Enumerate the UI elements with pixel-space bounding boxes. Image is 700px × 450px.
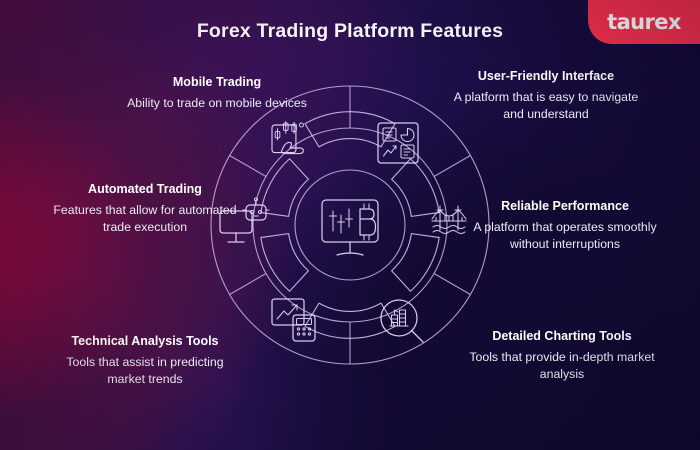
feature-label-reliable-performance: Reliable Performance A platform that ope…: [470, 198, 660, 253]
feature-label-technical-analysis-tools: Technical Analysis Tools Tools that assi…: [50, 333, 240, 388]
feature-description: A platform that operates smoothly withou…: [470, 219, 660, 253]
outer-ring-spokes: [230, 86, 471, 364]
brand-logo-badge: taurex: [588, 0, 700, 44]
brand-logo-text: taurex: [607, 10, 681, 34]
circular-feature-diagram: [210, 85, 490, 365]
monitor-candlestick-bitcoin-icon: [322, 200, 378, 255]
feature-title: User-Friendly Interface: [448, 68, 644, 84]
center-circle: [295, 170, 405, 280]
dashboard-panels-icon: [378, 123, 418, 163]
infographic-poster: Forex Trading Platform Features taurex: [0, 0, 700, 450]
feature-description: Tools that provide in-depth market analy…: [462, 349, 662, 383]
bridge-water-icon: [432, 206, 466, 234]
feature-label-user-friendly-interface: User-Friendly Interface A platform that …: [448, 68, 644, 123]
feature-title: Automated Trading: [50, 181, 240, 197]
feature-description: Features that allow for automated trade …: [50, 202, 240, 236]
feature-label-automated-trading: Automated Trading Features that allow fo…: [50, 181, 240, 236]
feature-description: A platform that is easy to navigate and …: [448, 89, 644, 123]
feature-description: Tools that assist in predicting market t…: [50, 354, 240, 388]
inner-wedge-segments: [261, 112, 439, 339]
feature-label-detailed-charting-tools: Detailed Charting Tools Tools that provi…: [462, 328, 662, 383]
feature-label-mobile-trading: Mobile Trading Ability to trade on mobil…: [122, 74, 312, 112]
feature-title: Technical Analysis Tools: [50, 333, 240, 349]
feature-title: Reliable Performance: [470, 198, 660, 214]
feature-title: Mobile Trading: [122, 74, 312, 90]
feature-title: Detailed Charting Tools: [462, 328, 662, 344]
feature-description: Ability to trade on mobile devices: [122, 95, 312, 112]
mobile-hand-candlestick-icon: [272, 121, 303, 153]
